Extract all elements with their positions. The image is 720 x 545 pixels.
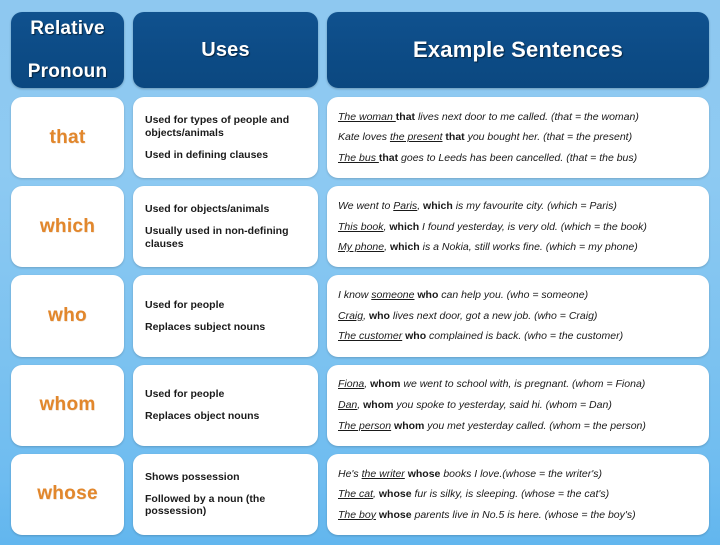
sentence-fragment: that: [396, 111, 415, 123]
sentence-fragment: is my favourite city. (which = Paris): [453, 200, 617, 212]
use-line: Replaces object nouns: [145, 410, 309, 423]
example-sentence: Kate loves the present that you bought h…: [338, 131, 699, 144]
sentence-fragment: The cat: [338, 488, 373, 500]
relative-pronouns-table: Relative Pronoun Uses Example Sentences …: [0, 0, 720, 545]
column-header-example-sentences: Example Sentences: [327, 12, 709, 88]
sentence-fragment: that: [379, 152, 398, 164]
pronoun-label: whose: [37, 483, 98, 505]
sentence-fragment: which: [389, 221, 419, 233]
uses-cell: Used for types of people and objects/ani…: [133, 97, 318, 178]
pronoun-label: whom: [39, 394, 95, 416]
sentence-fragment: whose: [379, 509, 412, 521]
use-line: Used in defining clauses: [145, 149, 309, 162]
pronoun-cell-that: that: [11, 97, 124, 178]
examples-cell: He's the writer whose books I love.(whos…: [327, 454, 709, 535]
use-line: Used for people: [145, 388, 309, 401]
use-line: Followed by a noun (the possession): [145, 493, 309, 519]
sentence-fragment: books I love.(whose = the writer's): [440, 468, 602, 480]
sentence-fragment: is a Nokia, still works fine. (which = m…: [420, 241, 638, 253]
sentence-fragment: I know: [338, 289, 371, 301]
sentence-fragment: whose: [379, 488, 412, 500]
example-sentence: The cat, whose fur is silky, is sleeping…: [338, 488, 699, 501]
example-sentence: The person whom you met yesterday called…: [338, 420, 699, 433]
sentence-fragment: Paris: [393, 200, 417, 212]
use-line: Used for people: [145, 299, 309, 312]
use-line: Usually used in non-defining clauses: [145, 225, 309, 251]
examples-cell: The woman that lives next door to me cal…: [327, 97, 709, 178]
example-sentence: This book, which I found yesterday, is v…: [338, 221, 699, 234]
column-header-relative-pronoun: Relative Pronoun: [11, 12, 124, 88]
pronoun-cell-whom: whom: [11, 365, 124, 446]
example-sentence: Craig, who lives next door, got a new jo…: [338, 310, 699, 323]
example-sentence: I know someone who can help you. (who = …: [338, 289, 699, 302]
use-line: Used for objects/animals: [145, 203, 309, 216]
sentence-fragment: We went to: [338, 200, 393, 212]
sentence-fragment: This book: [338, 221, 384, 233]
table-row: whichUsed for objects/animalsUsually use…: [11, 186, 709, 267]
sentence-fragment: whom: [394, 420, 424, 432]
uses-cell: Shows possessionFollowed by a noun (the …: [133, 454, 318, 535]
sentence-fragment: fur is silky, is sleeping. (whose = the …: [412, 488, 610, 500]
use-line: Replaces subject nouns: [145, 321, 309, 334]
use-line: Shows possession: [145, 471, 309, 484]
example-sentence: My phone, which is a Nokia, still works …: [338, 241, 699, 254]
sentence-fragment: whom: [363, 399, 393, 411]
column-header-relative-pronoun-line1: Relative: [28, 18, 108, 39]
sentence-fragment: I found yesterday, is very old. (which =…: [419, 221, 647, 233]
table-row: whoUsed for peopleReplaces subject nouns…: [11, 275, 709, 356]
sentence-fragment: The woman: [338, 111, 396, 123]
sentence-fragment: you met yesterday called. (whom = the pe…: [424, 420, 645, 432]
pronoun-cell-whose: whose: [11, 454, 124, 535]
pronoun-label: that: [49, 127, 85, 149]
sentence-fragment: The bus: [338, 152, 379, 164]
pronoun-cell-which: which: [11, 186, 124, 267]
use-line: Used for types of people and objects/ani…: [145, 114, 309, 140]
pronoun-cell-who: who: [11, 275, 124, 356]
example-sentence: The bus that goes to Leeds has been canc…: [338, 152, 699, 165]
uses-cell: Used for objects/animalsUsually used in …: [133, 186, 318, 267]
column-header-relative-pronoun-line2: Pronoun: [28, 61, 108, 82]
sentence-fragment: whose: [408, 468, 441, 480]
table-body: thatUsed for types of people and objects…: [11, 97, 709, 535]
sentence-fragment: The person: [338, 420, 391, 432]
column-header-uses: Uses: [133, 12, 318, 88]
sentence-fragment: who: [417, 289, 438, 301]
pronoun-label: who: [48, 305, 87, 327]
sentence-fragment: Craig: [338, 310, 363, 322]
sentence-fragment: My phone: [338, 241, 384, 253]
example-sentence: The customer who complained is back. (wh…: [338, 330, 699, 343]
sentence-fragment: lives next door to me called. (that = th…: [415, 111, 639, 123]
pronoun-label: which: [40, 216, 95, 238]
example-sentence: Fiona, whom we went to school with, is p…: [338, 378, 699, 391]
sentence-fragment: who: [405, 330, 426, 342]
table-header-row: Relative Pronoun Uses Example Sentences: [11, 12, 709, 88]
sentence-fragment: the writer: [362, 468, 405, 480]
sentence-fragment: He's: [338, 468, 362, 480]
example-sentence: He's the writer whose books I love.(whos…: [338, 468, 699, 481]
sentence-fragment: who: [369, 310, 390, 322]
sentence-fragment: The boy: [338, 509, 376, 521]
table-row: whoseShows possessionFollowed by a noun …: [11, 454, 709, 535]
examples-cell: Fiona, whom we went to school with, is p…: [327, 365, 709, 446]
sentence-fragment: whom: [370, 378, 400, 390]
example-sentence: The woman that lives next door to me cal…: [338, 111, 699, 124]
sentence-fragment: parents live in No.5 is here. (whose = t…: [412, 509, 636, 521]
table-row: whomUsed for peopleReplaces object nouns…: [11, 365, 709, 446]
sentence-fragment: can help you. (who = someone): [438, 289, 588, 301]
uses-cell: Used for peopleReplaces subject nouns: [133, 275, 318, 356]
sentence-fragment: which: [390, 241, 420, 253]
sentence-fragment: goes to Leeds has been cancelled. (that …: [398, 152, 637, 164]
examples-cell: I know someone who can help you. (who = …: [327, 275, 709, 356]
example-sentence: Dan, whom you spoke to yesterday, said h…: [338, 399, 699, 412]
example-sentence: The boy whose parents live in No.5 is he…: [338, 509, 699, 522]
examples-cell: We went to Paris, which is my favourite …: [327, 186, 709, 267]
sentence-fragment: The customer: [338, 330, 402, 342]
sentence-fragment: which: [423, 200, 453, 212]
sentence-fragment: we went to school with, is pregnant. (wh…: [400, 378, 645, 390]
sentence-fragment: the present: [390, 131, 443, 143]
sentence-fragment: complained is back. (who = the customer): [426, 330, 623, 342]
table-row: thatUsed for types of people and objects…: [11, 97, 709, 178]
sentence-fragment: lives next door, got a new job. (who = C…: [390, 310, 597, 322]
sentence-fragment: you spoke to yesterday, said hi. (whom =…: [393, 399, 611, 411]
sentence-fragment: that: [445, 131, 464, 143]
example-sentence: We went to Paris, which is my favourite …: [338, 200, 699, 213]
sentence-fragment: Fiona: [338, 378, 364, 390]
sentence-fragment: Kate loves: [338, 131, 390, 143]
sentence-fragment: someone: [371, 289, 414, 301]
uses-cell: Used for peopleReplaces object nouns: [133, 365, 318, 446]
sentence-fragment: you bought her. (that = the present): [465, 131, 632, 143]
sentence-fragment: Dan: [338, 399, 357, 411]
